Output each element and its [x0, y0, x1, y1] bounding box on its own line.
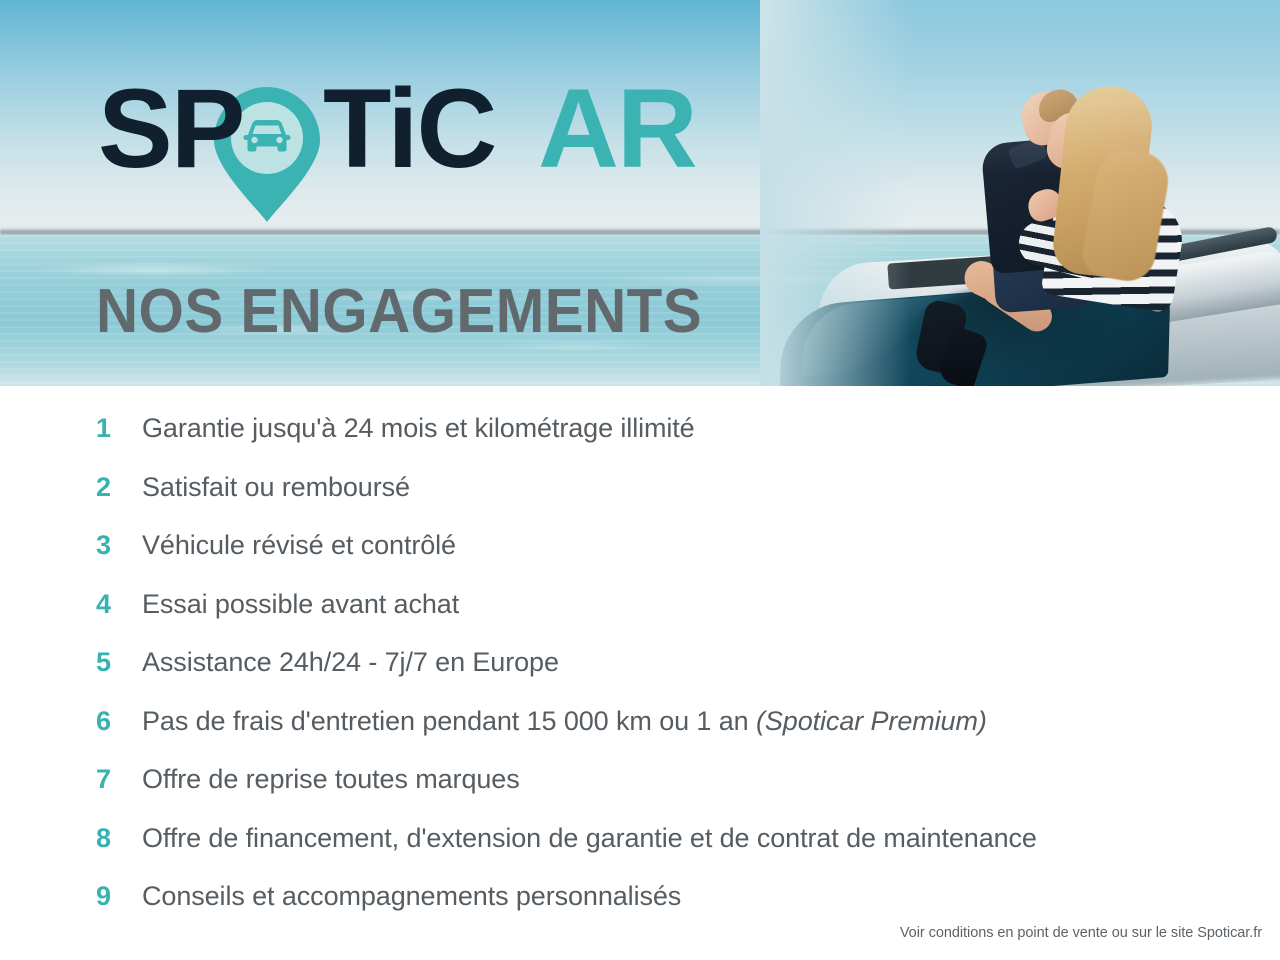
list-item: 4 Essai possible avant achat [96, 591, 1226, 650]
list-item-text: Offre de financement, d'extension de gar… [142, 825, 1037, 852]
list-item-text: Conseils et accompagnements personnalisé… [142, 883, 681, 910]
list-item-number: 2 [96, 474, 142, 501]
list-item-emphasis: (Spoticar Premium) [756, 706, 987, 736]
spoticar-logo: SP TiC AR [98, 55, 758, 225]
list-item: 3 Véhicule révisé et contrôlé [96, 532, 1226, 591]
svg-text:TiC: TiC [323, 66, 495, 191]
list-item-text: Garantie jusqu'à 24 mois et kilométrage … [142, 415, 695, 442]
hero-banner: SP TiC AR NOS ENGAGEMENTS [0, 0, 1280, 386]
svg-text:AR: AR [538, 66, 696, 191]
list-item: 5 Assistance 24h/24 - 7j/7 en Europe [96, 649, 1226, 708]
list-item: 1 Garantie jusqu'à 24 mois et kilométrag… [96, 415, 1226, 474]
svg-text:SP: SP [98, 66, 243, 191]
page-title: NOS ENGAGEMENTS [96, 281, 702, 343]
list-item-text: Essai possible avant achat [142, 591, 459, 618]
list-item-number: 9 [96, 883, 142, 910]
list-item-text: Véhicule révisé et contrôlé [142, 532, 456, 559]
list-item-number: 4 [96, 591, 142, 618]
family-on-car-photo [760, 0, 1280, 386]
list-item-number: 8 [96, 825, 142, 852]
list-item-text: Offre de reprise toutes marques [142, 766, 520, 793]
list-item: 6 Pas de frais d'entretien pendant 15 00… [96, 708, 1226, 767]
list-item-text: Assistance 24h/24 - 7j/7 en Europe [142, 649, 559, 676]
list-item-number: 7 [96, 766, 142, 793]
list-item-number: 3 [96, 532, 142, 559]
commitments-list: 1 Garantie jusqu'à 24 mois et kilométrag… [96, 415, 1226, 942]
spoticar-commitments-poster: SP TiC AR NOS ENGAGEMENTS 1 Garantie jus… [0, 0, 1280, 960]
list-item-text: Satisfait ou remboursé [142, 474, 410, 501]
list-item-text: Pas de frais d'entretien pendant 15 000 … [142, 708, 987, 735]
list-item-number: 5 [96, 649, 142, 676]
legal-footnote: Voir conditions en point de vente ou sur… [900, 925, 1262, 941]
list-item: 8 Offre de financement, d'extension de g… [96, 825, 1226, 884]
list-item-number: 1 [96, 415, 142, 442]
list-item-number: 6 [96, 708, 142, 735]
list-item: 7 Offre de reprise toutes marques [96, 766, 1226, 825]
list-item: 2 Satisfait ou remboursé [96, 474, 1226, 533]
